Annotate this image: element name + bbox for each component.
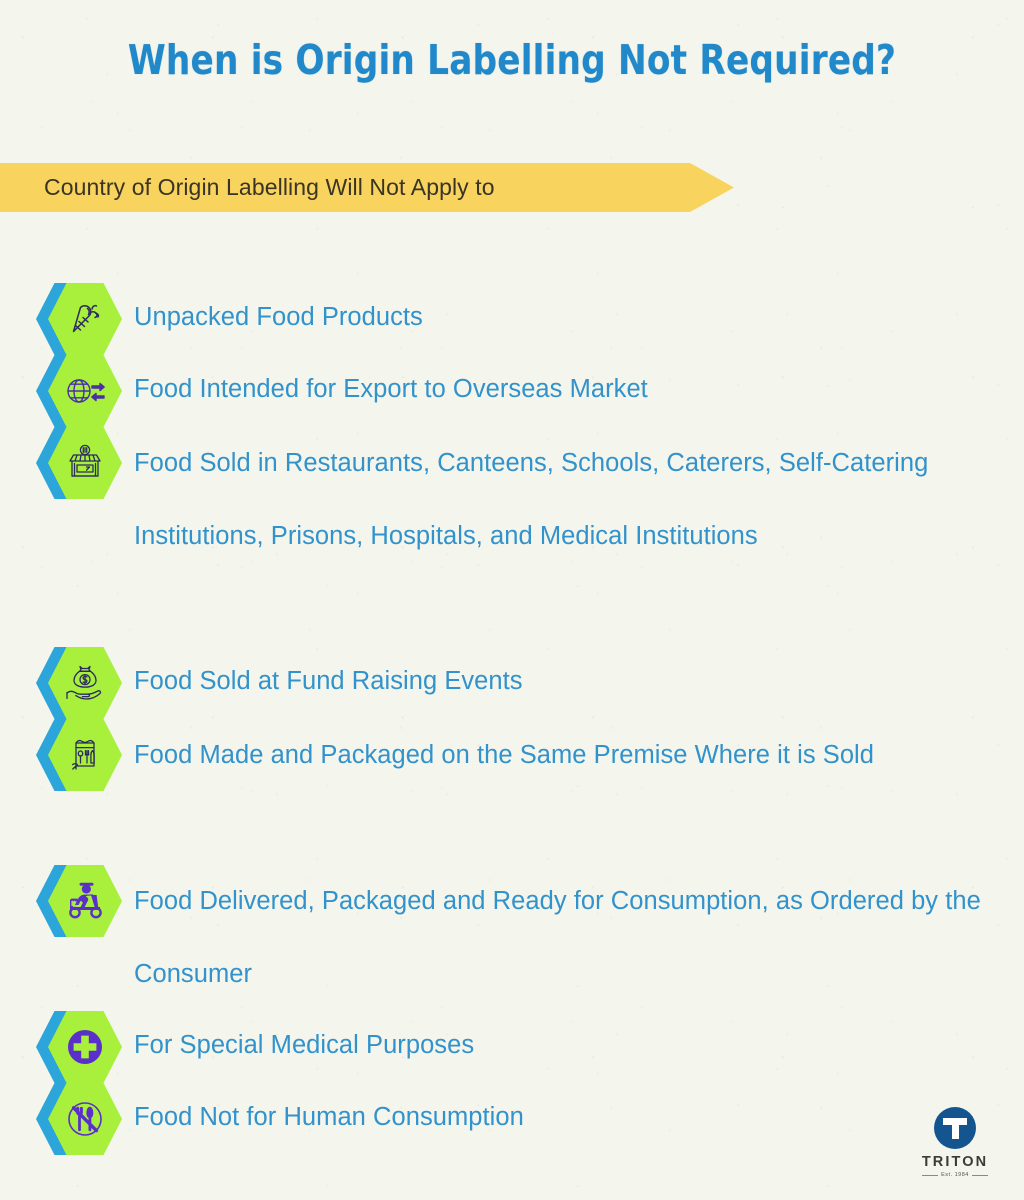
list-item: For Special Medical Purposes	[36, 1011, 474, 1083]
page-title: When is Origin Labelling Not Required?	[36, 36, 988, 84]
list-item-label: For Special Medical Purposes	[134, 1011, 474, 1064]
list-item: Food Sold at Fund Raising Events	[36, 647, 523, 719]
list-item-label: Food Sold at Fund Raising Events	[134, 647, 523, 700]
delivery-scooter-icon	[48, 865, 122, 937]
icon-badge	[36, 647, 124, 719]
triton-logo-mark-icon	[934, 1107, 976, 1149]
icon-badge	[36, 1083, 124, 1155]
triton-logo-wordmark: TRITON	[912, 1155, 998, 1170]
triton-logo-tagline: Est. 1984	[912, 1172, 998, 1178]
icon-badge	[36, 355, 124, 427]
list-item: Food Delivered, Packaged and Ready for C…	[36, 865, 994, 1010]
list-item: Unpacked Food Products	[36, 283, 423, 355]
food-package-bag-icon	[48, 719, 122, 791]
list-item: Food Not for Human Consumption	[36, 1083, 524, 1155]
restaurant-storefront-icon	[48, 427, 122, 499]
globe-export-icon	[48, 355, 122, 427]
list-item-label: Food Not for Human Consumption	[134, 1083, 524, 1136]
list-item: Food Sold in Restaurants, Canteens, Scho…	[36, 427, 994, 572]
list-item-label: Food Sold in Restaurants, Canteens, Scho…	[134, 427, 994, 572]
icon-badge	[36, 719, 124, 791]
icon-badge	[36, 283, 124, 355]
list-item: Food Intended for Export to Overseas Mar…	[36, 355, 648, 427]
logo-t-stem	[952, 1118, 959, 1139]
subtitle-banner: Country of Origin Labelling Will Not App…	[0, 163, 734, 212]
list-item-label: Food Intended for Export to Overseas Mar…	[134, 355, 648, 408]
icon-badge	[36, 427, 124, 499]
carrot-icon	[48, 283, 122, 355]
list-item: Food Made and Packaged on the Same Premi…	[36, 719, 874, 792]
subtitle-banner-label: Country of Origin Labelling Will Not App…	[0, 174, 495, 201]
list-item-label: Unpacked Food Products	[134, 283, 423, 336]
medical-cross-icon	[48, 1011, 122, 1083]
no-eating-icon	[48, 1083, 122, 1155]
icon-badge	[36, 865, 124, 937]
triton-logo: TRITON Est. 1984	[912, 1107, 998, 1179]
list-item-label: Food Made and Packaged on the Same Premi…	[134, 719, 874, 792]
hand-money-bag-icon	[48, 647, 122, 719]
icon-badge	[36, 1011, 124, 1083]
list-item-label: Food Delivered, Packaged and Ready for C…	[134, 865, 994, 1010]
